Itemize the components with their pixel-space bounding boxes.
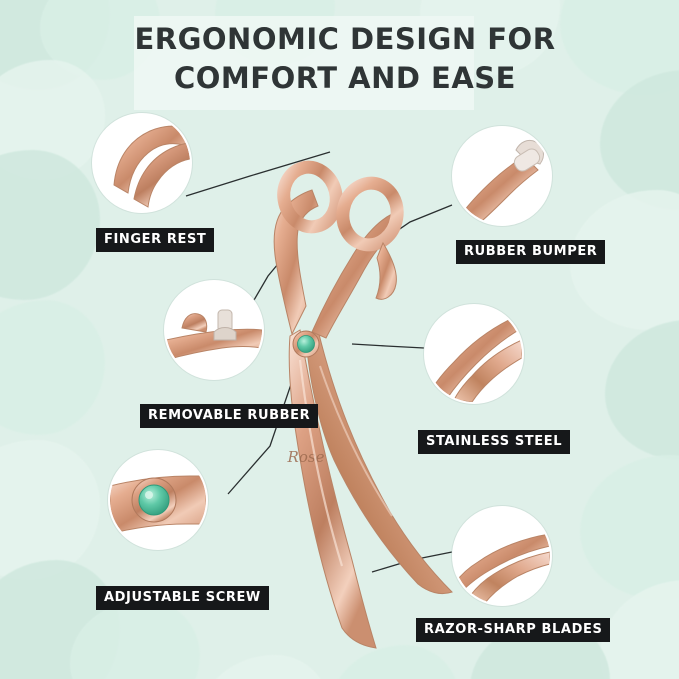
label-stainless-steel: Stainless Steel — [418, 430, 570, 454]
product-infographic: Ergonomic Design For Comfort and Ease — [0, 0, 679, 679]
label-adjustable-screw: Adjustable Screw — [96, 586, 269, 610]
callout-rubber-bumper — [452, 126, 552, 226]
callout-removable-rubber — [164, 280, 264, 380]
label-finger-rest: Finger Rest — [96, 228, 214, 252]
callout-finger-rest — [92, 113, 192, 213]
blade-engraving: Rose — [287, 448, 325, 466]
callout-adjustable-screw — [108, 450, 208, 550]
label-removable-rubber: Removable Rubber — [140, 404, 318, 428]
scissors-illustration: Rose — [0, 0, 679, 679]
callout-razor-sharp-blades — [452, 506, 552, 606]
callout-stainless-steel — [424, 304, 524, 404]
label-razor-sharp-blades: Razor-Sharp Blades — [416, 618, 610, 642]
label-rubber-bumper: Rubber Bumper — [456, 240, 605, 264]
